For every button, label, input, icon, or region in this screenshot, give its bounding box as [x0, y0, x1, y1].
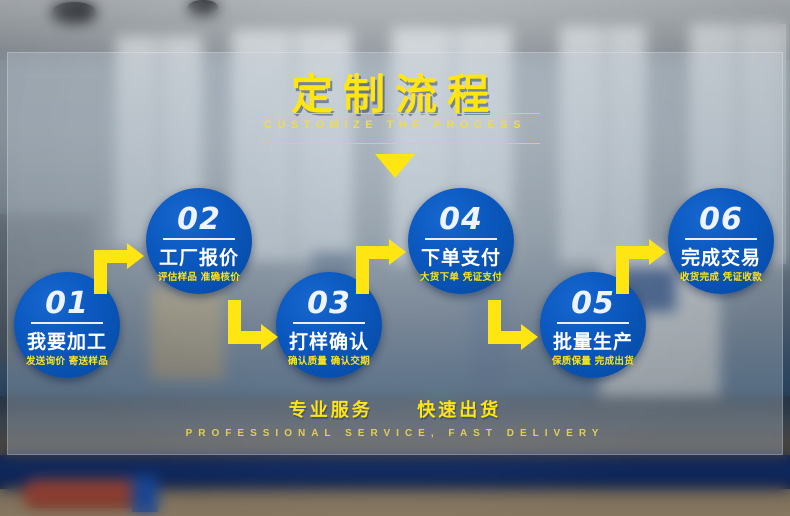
step-divider [557, 322, 629, 324]
footer-tagline-english: PROFESSIONAL SERVICE, FAST DELIVERY [0, 428, 790, 439]
step-name: 完成交易 [668, 243, 774, 270]
arrow-head-icon [521, 324, 538, 350]
footer-tagline: 专业服务 快速出货 [0, 396, 790, 422]
step-name: 我要加工 [14, 327, 120, 354]
arrow-horizontal-stem [356, 246, 390, 259]
title-divider-bottom [260, 143, 540, 144]
step-divider [293, 322, 365, 324]
step-description: 评估样品 准确核价 [146, 269, 252, 283]
step-number: 04 [408, 202, 514, 237]
arrow-horizontal-stem [94, 250, 128, 263]
step-name: 下单支付 [408, 243, 514, 270]
page-subtitle: CUSTOMIZE THE PROCESS [0, 119, 790, 131]
step-description: 大货下单 凭证支付 [408, 269, 514, 283]
footer-tagline-right: 快速出货 [417, 400, 501, 421]
step-node-02[interactable]: 02 工厂报价 评估样品 准确核价 [146, 188, 252, 294]
step-divider [31, 322, 103, 324]
arrow-horizontal-stem [616, 246, 650, 259]
step-description: 发送询价 寄送样品 [14, 353, 120, 367]
arrow-horizontal-stem [228, 331, 262, 344]
step-number: 06 [668, 202, 774, 237]
connector-arrow-02-03 [228, 300, 282, 358]
step-name: 打样确认 [276, 327, 382, 354]
footer-tagline-left: 专业服务 [289, 400, 373, 421]
arrow-head-icon [389, 239, 406, 265]
step-node-06[interactable]: 06 完成交易 收货完成 凭证收款 [668, 188, 774, 294]
arrow-head-icon [649, 239, 666, 265]
step-description: 保质保量 完成出货 [540, 353, 646, 367]
triangle-down-icon [375, 154, 415, 178]
step-name: 工厂报价 [146, 243, 252, 270]
connector-arrow-03-04 [356, 232, 410, 294]
step-number: 02 [146, 202, 252, 237]
process-banner: 定制流程 CUSTOMIZE THE PROCESS 01 我要加工 发送询价 … [0, 0, 790, 516]
connector-arrow-01-02 [94, 236, 148, 294]
arrow-horizontal-stem [488, 331, 522, 344]
step-description: 收货完成 凭证收款 [668, 269, 774, 283]
connector-arrow-04-05 [488, 300, 542, 358]
step-name: 批量生产 [540, 327, 646, 354]
arrow-head-icon [127, 243, 144, 269]
arrow-head-icon [261, 324, 278, 350]
title-divider-top [260, 113, 540, 114]
connector-arrow-05-06 [616, 232, 670, 294]
step-divider [685, 238, 757, 240]
step-node-04[interactable]: 04 下单支付 大货下单 凭证支付 [408, 188, 514, 294]
step-divider [425, 238, 497, 240]
step-divider [163, 238, 235, 240]
step-description: 确认质量 确认交期 [276, 353, 382, 367]
